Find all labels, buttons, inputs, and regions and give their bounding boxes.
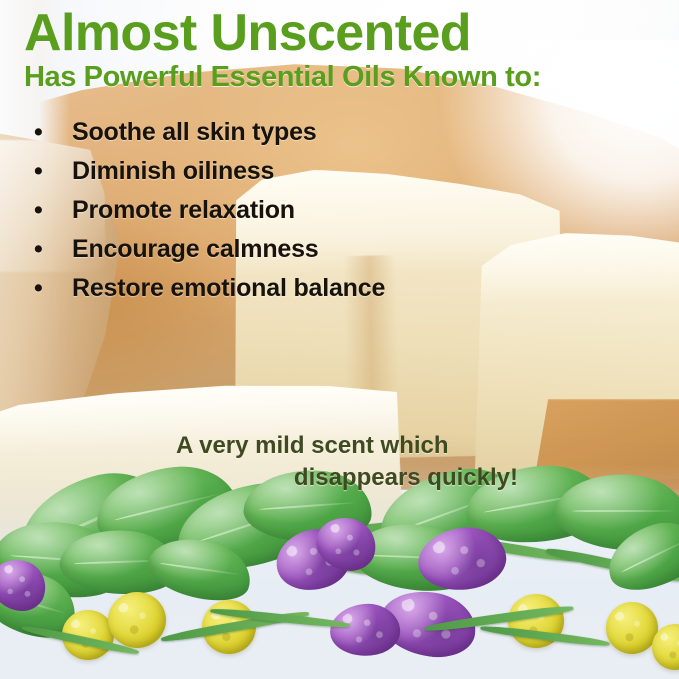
bullet-icon: • [26, 276, 72, 301]
list-item: • Encourage calmness [26, 235, 456, 274]
caption-line-two: disappears quickly! [176, 462, 526, 494]
list-item: • Restore emotional balance [26, 274, 456, 313]
page-title: Almost Unscented [24, 6, 471, 61]
page-subtitle: Has Powerful Essential Oils Known to: [24, 62, 541, 94]
benefit-label: Restore emotional balance [72, 274, 385, 303]
bullet-icon: • [26, 159, 72, 184]
benefits-list: • Soothe all skin types • Diminish oilin… [26, 118, 456, 313]
list-item: • Promote relaxation [26, 196, 456, 235]
bullet-icon: • [26, 198, 72, 223]
poster-text-layer: Almost Unscented Has Powerful Essential … [0, 0, 679, 679]
benefit-label: Diminish oiliness [72, 157, 274, 186]
caption-line-one: A very mild scent which [176, 430, 526, 462]
benefit-label: Soothe all skin types [72, 118, 316, 147]
scent-caption: A very mild scent which disappears quick… [176, 430, 526, 494]
benefit-label: Encourage calmness [72, 235, 319, 264]
bullet-icon: • [26, 237, 72, 262]
bullet-icon: • [26, 120, 72, 145]
list-item: • Diminish oiliness [26, 157, 456, 196]
benefit-label: Promote relaxation [72, 196, 295, 225]
product-infographic-poster: Almost Unscented Has Powerful Essential … [0, 0, 679, 679]
list-item: • Soothe all skin types [26, 118, 456, 157]
